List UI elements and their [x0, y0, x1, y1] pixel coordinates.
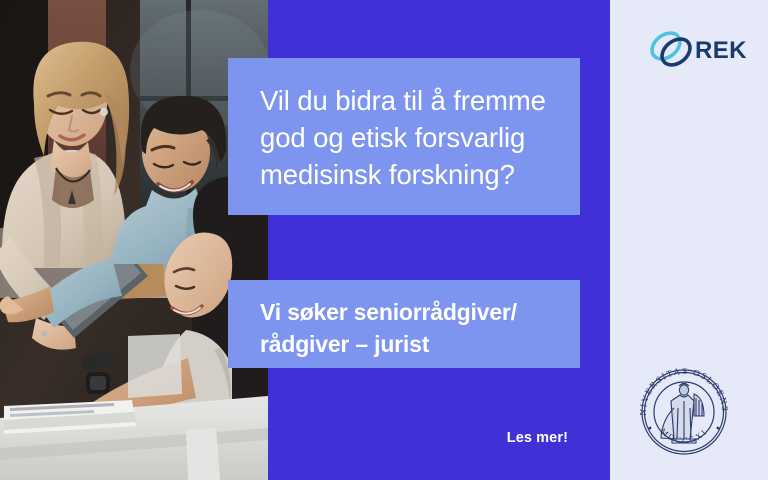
rek-interlocking-loops-icon: [648, 28, 695, 70]
rek-wordmark: REK: [695, 37, 747, 64]
job-title-card: Vi søker seniorrådgiver/ rådgiver – juri…: [228, 280, 580, 368]
rek-logo[interactable]: REK: [648, 26, 748, 74]
recruitment-banner: Vil du bidra til å fremme god og etisk f…: [0, 0, 768, 480]
job-title-text: Vi søker seniorrådgiver/ rådgiver – juri…: [260, 296, 560, 360]
uio-seal: UNIVERSITAS OSLOENSIS MDCCCXI: [632, 360, 736, 464]
headline-card: Vil du bidra til å fremme god og etisk f…: [228, 58, 580, 215]
headline-text: Vil du bidra til å fremme god og etisk f…: [260, 82, 554, 193]
read-more-link[interactable]: Les mer!: [380, 430, 568, 446]
